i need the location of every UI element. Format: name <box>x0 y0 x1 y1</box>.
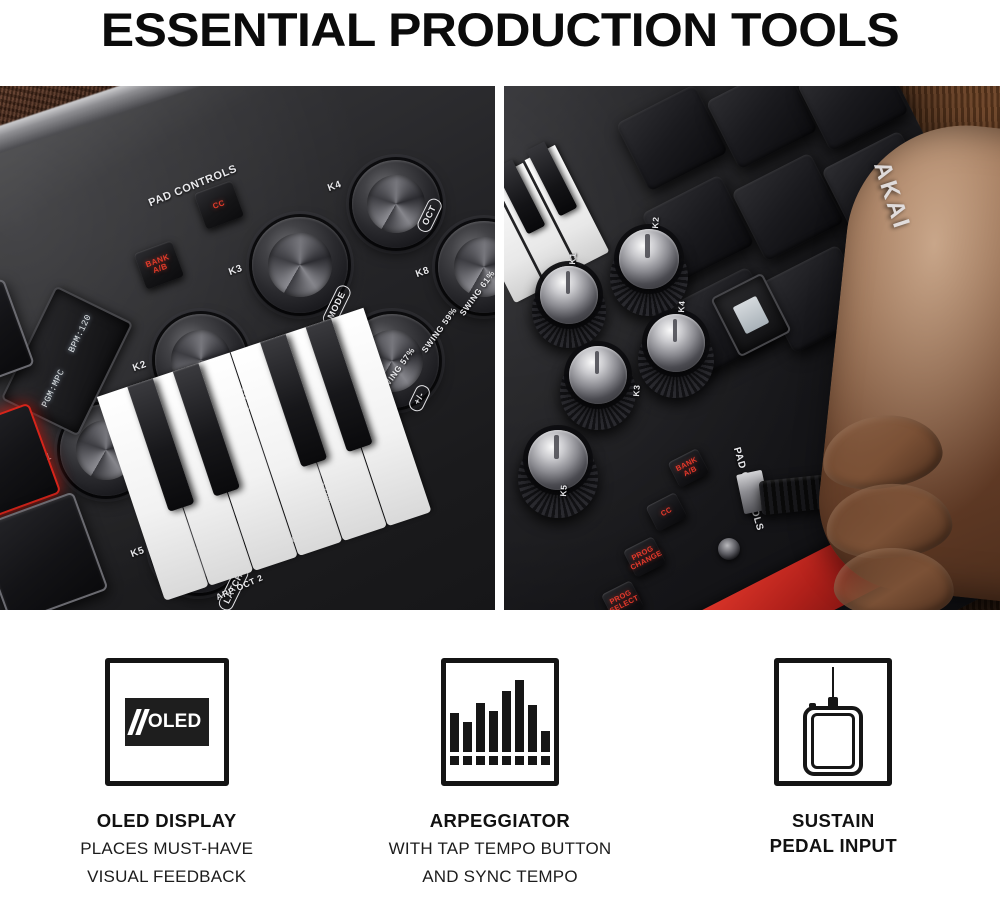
bar-graph-block <box>489 756 498 765</box>
oled-right-text: BPM:120 <box>67 313 94 355</box>
label-k4: K4 <box>677 300 687 313</box>
knob-k4[interactable] <box>647 314 705 372</box>
bar-graph-bar <box>528 705 537 752</box>
bar-graph-icon <box>450 680 550 765</box>
bar-graph-bar <box>489 711 498 752</box>
label-k2: K2 <box>651 216 661 229</box>
bar-graph-bar <box>476 703 485 752</box>
bar-graph-block <box>450 756 459 765</box>
bar-graph-block <box>528 756 537 765</box>
label-k1: K1 <box>568 252 578 265</box>
feature-title: ARPEGGIATOR <box>430 808 570 833</box>
feature-subtitle-line-2: AND SYNC TEMPO <box>422 865 578 889</box>
photo-controller-closeup: K1 K2 K3 K4 K5 K6 K7 K8 DIVISION SWING L… <box>0 86 495 610</box>
label-k5: K5 <box>559 484 569 497</box>
bar-graph-bars <box>450 680 550 752</box>
bar-graph-bar <box>515 680 524 752</box>
slash-icon <box>127 709 149 735</box>
knob-k5[interactable] <box>528 430 588 490</box>
feature-oled-display: OLED OLED DISPLAY PLACES MUST-HAVE VISUA… <box>0 640 333 903</box>
feature-subtitle-line-1: WITH TAP TEMPO BUTTON <box>389 837 612 861</box>
oled-icon-label: OLED <box>148 711 202 733</box>
feature-title: SUSTAIN <box>792 808 875 833</box>
bar-graph-bar <box>541 731 550 752</box>
bar-graph-bar <box>463 722 472 752</box>
bar-graph-block <box>502 756 511 765</box>
sustain-pedal-jack[interactable] <box>718 538 740 560</box>
feature-sustain-pedal-input: SUSTAIN PEDAL INPUT <box>667 640 1000 903</box>
bar-graph-block <box>463 756 472 765</box>
bar-graph-bar <box>450 713 459 752</box>
bar-graph-bar <box>502 691 511 752</box>
product-feature-page: ESSENTIAL PRODUCTION TOOLS K1 K2 K3 K4 K… <box>0 0 1000 903</box>
button-bank-ab-label: BANK A/B <box>137 250 180 279</box>
feature-list: OLED OLED DISPLAY PLACES MUST-HAVE VISUA… <box>0 640 1000 903</box>
pedal-inner-icon <box>811 713 855 769</box>
button-cc-label: CC <box>212 199 226 211</box>
oled-glow <box>733 296 770 335</box>
sustain-pedal-icon <box>774 658 892 786</box>
page-title: ESSENTIAL PRODUCTION TOOLS <box>0 2 1000 57</box>
button-cc-label: CC <box>660 506 674 518</box>
oled-display-icon: OLED <box>105 658 229 786</box>
pedal-graphic <box>783 667 883 777</box>
knob-k3[interactable] <box>569 346 627 404</box>
pedal-nub-icon <box>809 703 816 708</box>
bar-graph-blocks <box>450 756 550 765</box>
photo-sustain-pedal-input: K1 K2 K3 K4 K5 PAD CONTROLS BANK A/B CC … <box>504 86 1000 610</box>
pedal-cable-icon <box>832 667 834 701</box>
knob-k2[interactable] <box>619 229 679 289</box>
bar-graph-block <box>515 756 524 765</box>
feature-title-line-2: PEDAL INPUT <box>770 833 897 858</box>
bar-graph-block <box>476 756 485 765</box>
button-prog-select-label: PROG SELECT <box>604 586 641 610</box>
feature-title: OLED DISPLAY <box>97 808 237 833</box>
photo-strip: K1 K2 K3 K4 K5 K6 K7 K8 DIVISION SWING L… <box>0 86 1000 610</box>
arpeggiator-bars-icon <box>441 658 559 786</box>
bar-graph-block <box>541 756 550 765</box>
oled-chip: OLED <box>125 698 209 746</box>
feature-subtitle-line-2: VISUAL FEEDBACK <box>87 865 246 889</box>
oled-left-text: PGM:MPC <box>40 368 67 410</box>
feature-subtitle-line-1: PLACES MUST-HAVE <box>80 837 253 861</box>
label-k3: K3 <box>632 384 642 397</box>
knob-k1[interactable] <box>540 266 598 324</box>
feature-arpeggiator: ARPEGGIATOR WITH TAP TEMPO BUTTON AND SY… <box>333 640 666 903</box>
